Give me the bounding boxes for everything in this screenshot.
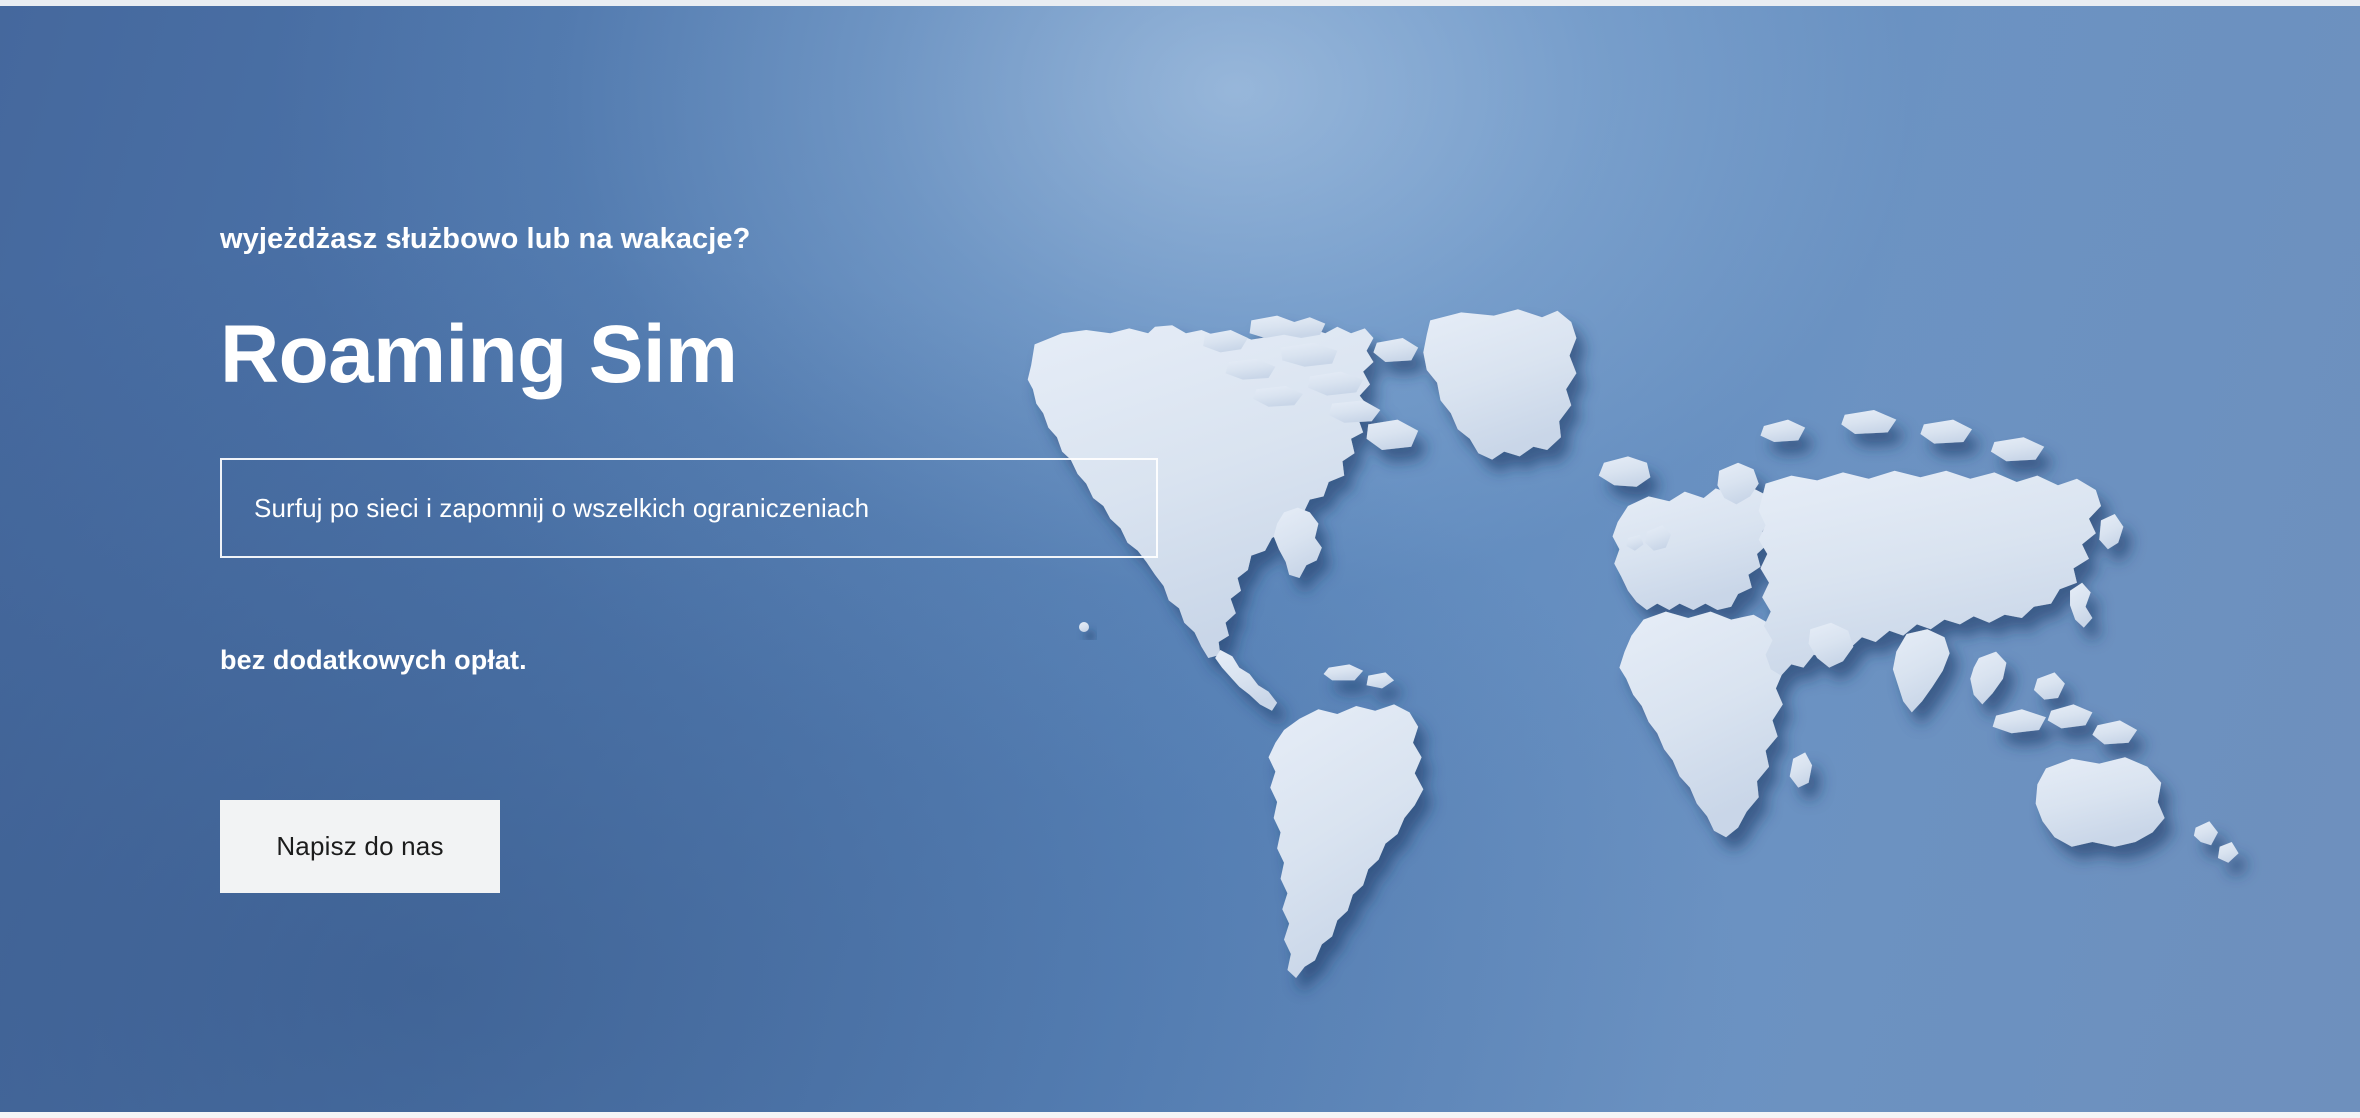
contact-us-button[interactable]: Napisz do nas — [220, 800, 500, 893]
tagline-box: Surfuj po sieci i zapomnij o wszelkich o… — [220, 458, 1158, 558]
hero-banner: wyjeżdżasz służbowo lub na wakacje? Roam… — [0, 0, 2360, 1118]
hero-subnote: bez dodatkowych opłat. — [220, 645, 527, 676]
page-title: Roaming Sim — [220, 312, 737, 398]
hero-tagline: Surfuj po sieci i zapomnij o wszelkich o… — [222, 493, 869, 524]
hero-eyebrow: wyjeżdżasz służbowo lub na wakacje? — [220, 222, 750, 257]
hero-content: wyjeżdżasz służbowo lub na wakacje? Roam… — [220, 0, 1320, 1118]
